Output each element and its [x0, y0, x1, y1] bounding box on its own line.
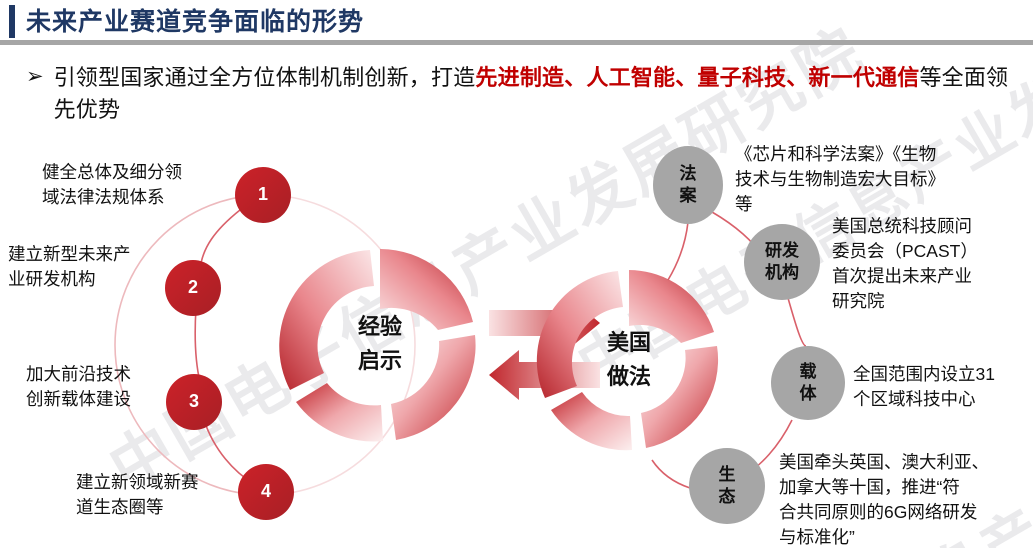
slide-root: 中国电子信息产业发展研究院 中国电子信息产业发展研究院 中国电子信息产业发展研究… [0, 0, 1033, 548]
badge-label-2: 研发 机构 [748, 240, 816, 284]
diagram-canvas: 经验 启示 美国 做法 1 2 3 4 法 案 研发 机构 载 体 生 态 健全… [0, 130, 1033, 548]
left-item-text-3: 加大前沿技术 创新载体建设 [26, 362, 192, 412]
right-item-text-2: 美国总统科技顾问 委员会（PCAST） 首次提出未来产业 研究院 [832, 214, 1033, 314]
right-item-text-4: 美国牵头英国、澳大利亚、 加拿大等十国，推进“符 合共同原则的6G网络研发 与标… [779, 450, 1033, 548]
bullet-arrow-icon: ➢ [26, 62, 44, 92]
connector-right-5 [652, 460, 690, 488]
number-label-4: 4 [246, 481, 286, 502]
left-donut-center-label: 经验 启示 [310, 310, 450, 378]
right-item-text-3: 全国范围内设立31 个区域科技中心 [853, 362, 1033, 412]
bullet-text-part1: 引领型国家通过全方位体制机制创新，打造 [54, 65, 476, 90]
connector-right-3 [788, 298, 806, 346]
badge-label-1: 法 案 [658, 163, 718, 207]
left-guide-arc-outer [115, 195, 265, 495]
number-label-1: 1 [243, 184, 283, 205]
number-label-3: 3 [174, 391, 214, 412]
slide-title-bar: 未来产业赛道竞争面临的形势 [0, 0, 1033, 46]
connector-right-1 [668, 222, 688, 280]
badge-label-4: 生 态 [697, 464, 757, 508]
title-divider [0, 40, 1033, 45]
right-donut-center-label: 美国 做法 [561, 326, 697, 394]
page-title: 未来产业赛道竞争面临的形势 [26, 6, 364, 38]
bullet-text-highlight: 先进制造、人工智能、量子科技、新一代通信 [475, 65, 919, 90]
bullet-paragraph: ➢ 引领型国家通过全方位体制机制创新，打造先进制造、人工智能、量子科技、新一代通… [26, 62, 1016, 126]
title-accent-bar [9, 5, 15, 38]
badge-label-3: 载 体 [778, 361, 838, 405]
connector-1-2 [200, 210, 240, 270]
connector-2-3 [195, 308, 200, 382]
bullet-text: 引领型国家通过全方位体制机制创新，打造先进制造、人工智能、量子科技、新一代通信等… [54, 62, 1016, 126]
number-label-2: 2 [173, 277, 213, 298]
left-item-text-1: 健全总体及细分领 域法律法规体系 [42, 160, 242, 210]
left-item-text-2: 建立新型未来产 业研发机构 [8, 242, 188, 292]
left-item-text-4: 建立新领域新赛 道生态圈等 [76, 470, 252, 520]
right-item-text-1: 《芯片和科学法案》《生物 技术与生物制造宏大目标》 等 [735, 142, 1033, 217]
